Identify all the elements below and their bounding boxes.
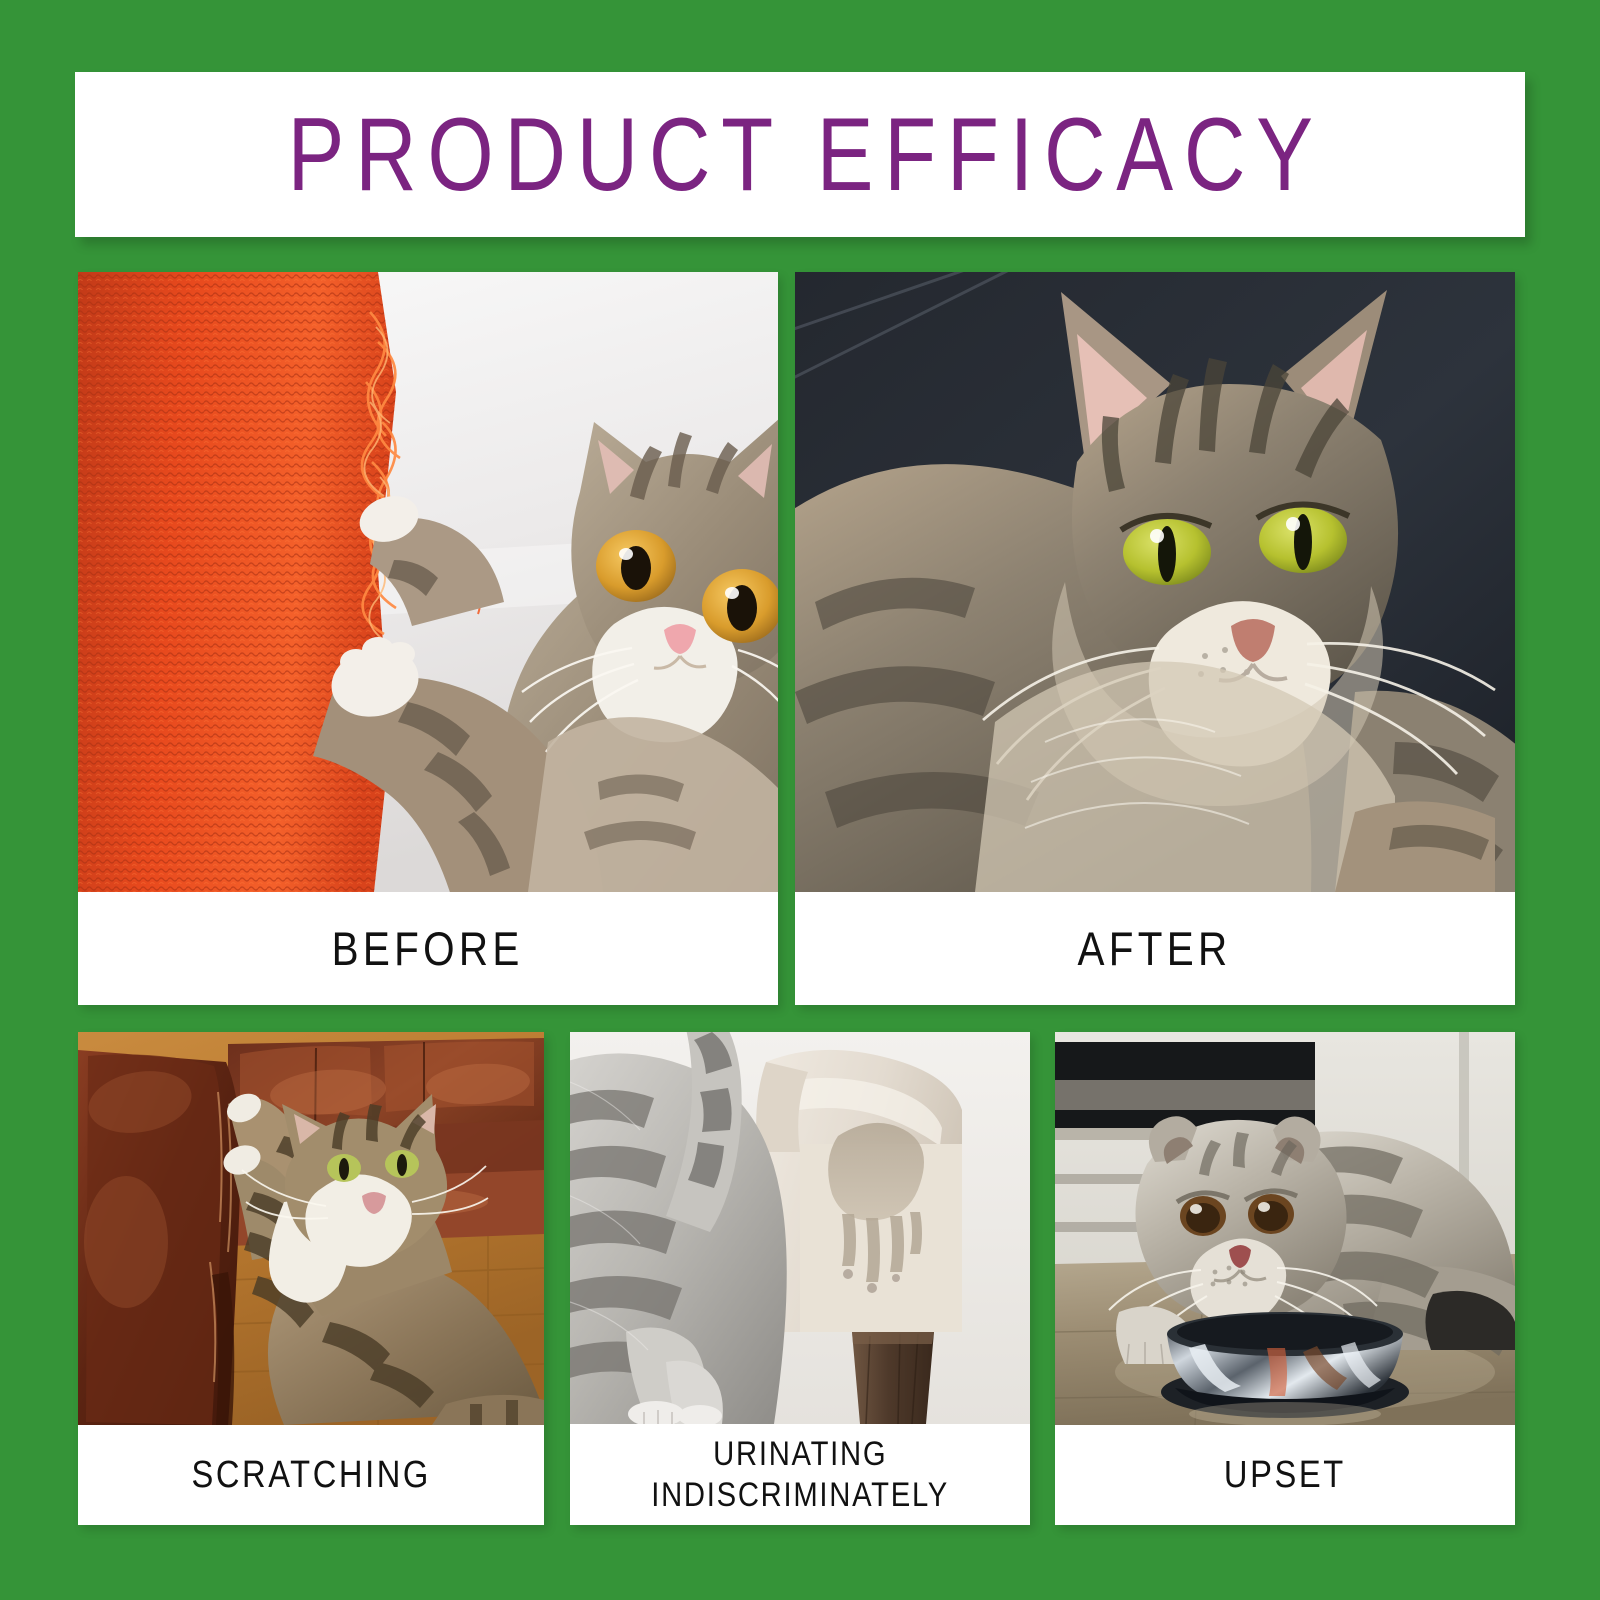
photo-after-calm-cat-portrait bbox=[795, 272, 1515, 892]
card-problem-urinating[interactable]: URINATING INDISCRIMINATELY bbox=[570, 1032, 1030, 1525]
caption-scratching-label: SCRATCHING bbox=[191, 1454, 430, 1497]
caption-upset-label: UPSET bbox=[1224, 1454, 1346, 1497]
title-banner: PRODUCT EFFICACY bbox=[75, 72, 1525, 237]
card-problem-scratching[interactable]: SCRATCHING bbox=[78, 1032, 544, 1525]
caption-urinating-line1: URINATING bbox=[713, 1434, 887, 1474]
card-before[interactable]: BEFORE bbox=[78, 272, 778, 1005]
caption-upset: UPSET bbox=[1055, 1425, 1515, 1525]
photo-cat-scratching-sofa bbox=[78, 1032, 544, 1425]
caption-before: BEFORE bbox=[78, 892, 778, 1005]
caption-after-label: AFTER bbox=[1078, 921, 1232, 976]
caption-urinating-line2: INDISCRIMINATELY bbox=[651, 1475, 949, 1515]
page-title: PRODUCT EFFICACY bbox=[277, 103, 1324, 207]
poster-root: PRODUCT EFFICACY bbox=[0, 0, 1600, 1600]
photo-cat-urinating-on-chair bbox=[570, 1032, 1030, 1424]
caption-urinating: URINATING INDISCRIMINATELY bbox=[570, 1424, 1030, 1525]
caption-after: AFTER bbox=[795, 892, 1515, 1005]
caption-before-label: BEFORE bbox=[332, 921, 524, 976]
photo-before-cat-scratching-fabric bbox=[78, 272, 778, 892]
caption-scratching: SCRATCHING bbox=[78, 1425, 544, 1525]
photo-upset-cat-with-bowl bbox=[1055, 1032, 1515, 1425]
card-problem-upset[interactable]: UPSET bbox=[1055, 1032, 1515, 1525]
card-after[interactable]: AFTER bbox=[795, 272, 1515, 1005]
